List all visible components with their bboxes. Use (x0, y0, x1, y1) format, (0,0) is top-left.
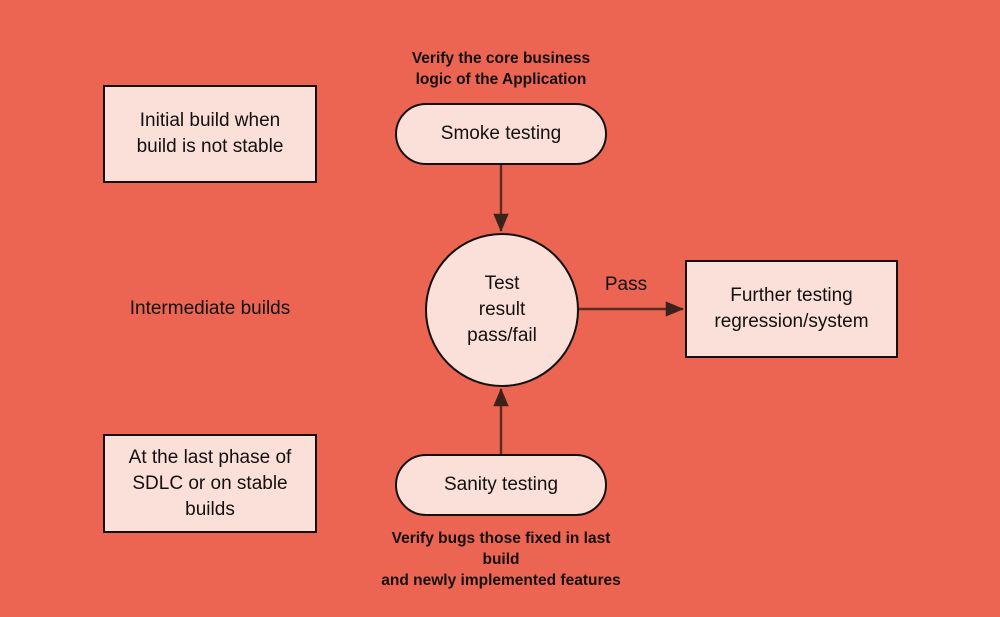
node-initial-build[interactable]: Initial build when build is not stable (103, 85, 317, 183)
sanity-testing-caption: Verify bugs those fixed in last build an… (371, 528, 631, 591)
node-initial-build-line-2: build is not stable (137, 134, 284, 160)
node-further-testing[interactable]: Further testing regression/system (685, 260, 898, 358)
smoke-testing-caption: Verify the core business logic of the Ap… (390, 48, 612, 90)
node-smoke-testing-label: Smoke testing (441, 121, 561, 147)
node-last-phase-line-2: SDLC or on stable (132, 471, 287, 497)
node-initial-build-line-1: Initial build when (140, 108, 280, 134)
sanity-caption-line-1: Verify bugs those fixed in last build (371, 528, 631, 570)
node-sanity-testing-label: Sanity testing (444, 472, 558, 498)
node-further-testing-line-2: regression/system (714, 309, 868, 335)
label-intermediate-builds: Intermediate builds (103, 296, 317, 322)
node-smoke-testing[interactable]: Smoke testing (395, 103, 607, 165)
smoke-caption-line-2: logic of the Application (390, 69, 612, 90)
node-test-result-line-3: pass/fail (467, 323, 537, 349)
node-last-phase-line-1: At the last phase of (129, 445, 292, 471)
node-further-testing-line-1: Further testing (730, 283, 853, 309)
node-test-result-line-1: Test (485, 271, 520, 297)
label-intermediate-builds-text: Intermediate builds (130, 298, 291, 319)
node-last-phase-line-3: builds (185, 497, 235, 523)
edge-label-pass: Pass (575, 273, 677, 297)
node-test-result[interactable]: Test result pass/fail (425, 233, 579, 387)
smoke-caption-line-1: Verify the core business (390, 48, 612, 69)
node-test-result-line-2: result (479, 297, 525, 323)
diagram-canvas: Verify the core business logic of the Ap… (0, 0, 1000, 617)
sanity-caption-line-2: and newly implemented features (371, 570, 631, 591)
edge-label-pass-text: Pass (605, 274, 647, 295)
node-sanity-testing[interactable]: Sanity testing (395, 454, 607, 516)
node-last-phase[interactable]: At the last phase of SDLC or on stable b… (103, 434, 317, 533)
